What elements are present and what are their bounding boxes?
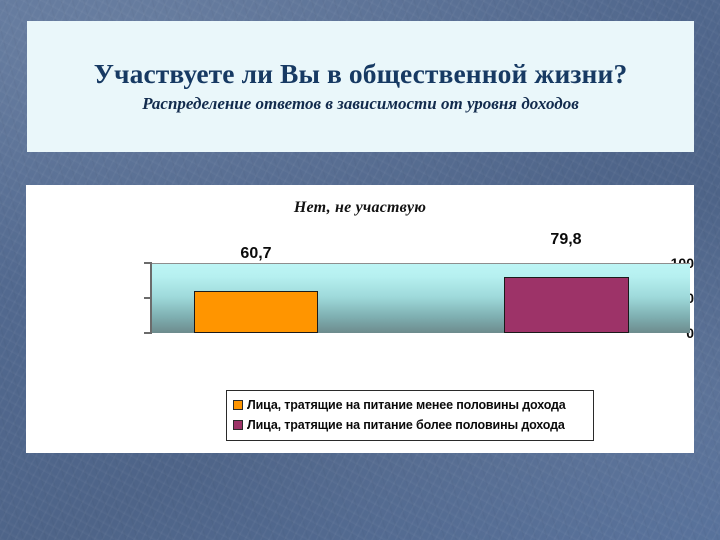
legend-label-series-2: Лица, тратящие на питание более половины…: [247, 418, 565, 432]
bar-series-2[interactable]: [504, 277, 629, 333]
legend-swatch-orange-icon: [233, 400, 243, 410]
y-axis-tick-0: [144, 332, 150, 334]
legend-label-series-1: Лица, тратящие на питание менее половины…: [247, 398, 566, 412]
slide-canvas: Участвуете ли Вы в общественной жизни? Р…: [0, 0, 720, 540]
data-label-series-2: 79,8: [550, 231, 581, 249]
plot-area-wrapper: [152, 263, 690, 333]
y-axis-tick-100: [144, 262, 150, 264]
legend-item-series-1[interactable]: Лица, тратящие на питание менее половины…: [233, 395, 587, 415]
title-panel: Участвуете ли Вы в общественной жизни? Р…: [27, 21, 694, 152]
page-title: Участвуете ли Вы в общественной жизни?: [94, 59, 628, 89]
legend-swatch-purple-icon: [233, 420, 243, 430]
data-label-series-1: 60,7: [240, 245, 271, 263]
bar-series-1[interactable]: [194, 291, 318, 334]
chart-legend: Лица, тратящие на питание менее половины…: [226, 390, 594, 441]
page-subtitle: Распределение ответов в зависимости от у…: [142, 95, 579, 114]
y-axis-tick-50: [144, 297, 150, 299]
legend-item-series-2[interactable]: Лица, тратящие на питание более половины…: [233, 415, 587, 435]
chart-title: Нет, не участвую: [26, 199, 694, 217]
chart-panel: Нет, не участвую 100 50 0 60,7 79,8 Лица…: [26, 185, 694, 453]
